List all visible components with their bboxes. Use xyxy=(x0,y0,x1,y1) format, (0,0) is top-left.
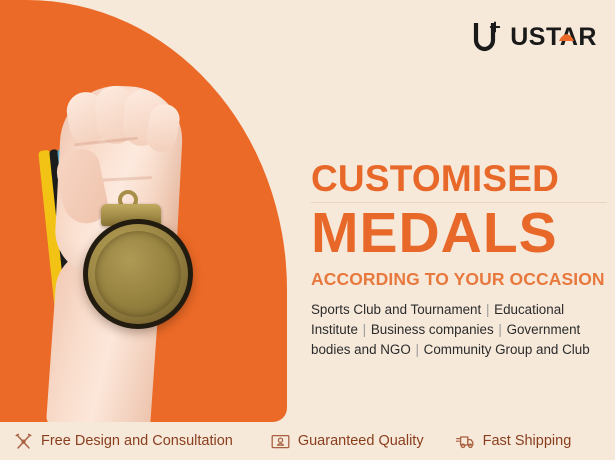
feature-label: Free Design and Consultation xyxy=(41,433,233,449)
logo-wordmark: USTAR xyxy=(510,25,597,50)
logo-text: USTAR xyxy=(510,23,597,51)
hero-copy: CUSTOMISED MEDALS ACCORDING TO YOUR OCCA… xyxy=(311,160,607,360)
quality-badge-icon xyxy=(271,433,290,450)
headline-primary: CUSTOMISED xyxy=(311,160,607,199)
promotional-banner: USTAR CUSTOMISED MEDALS ACCORDING TO YOU… xyxy=(0,0,615,460)
feature-label: Guaranteed Quality xyxy=(298,433,424,449)
audience-separator: | xyxy=(481,302,494,317)
hand-holding-medal-photo xyxy=(0,0,287,422)
audience-separator: | xyxy=(494,322,507,337)
design-tools-icon xyxy=(14,433,33,450)
subheadline: ACCORDING TO YOUR OCCASION xyxy=(311,269,607,290)
feature-free-design: Free Design and Consultation xyxy=(14,433,233,450)
feature-bar: Free Design and Consultation Guaranteed … xyxy=(0,422,615,460)
audience-segment: Community Group and Club xyxy=(424,342,590,357)
feature-label: Fast Shipping xyxy=(483,433,572,449)
feature-guaranteed-quality: Guaranteed Quality xyxy=(271,433,424,450)
audience-list: Sports Club and Tournament | Educational… xyxy=(311,300,607,360)
audience-segment: Business companies xyxy=(371,322,494,337)
audience-separator: | xyxy=(358,322,371,337)
brand-logo[interactable]: USTAR xyxy=(472,20,597,54)
ustar-u-mark-icon xyxy=(472,20,502,54)
feature-fast-shipping: Fast Shipping xyxy=(456,433,572,450)
delivery-truck-icon xyxy=(456,433,475,450)
hero-image-panel xyxy=(0,0,287,422)
audience-separator: | xyxy=(411,342,424,357)
audience-segment: Sports Club and Tournament xyxy=(311,302,481,317)
gold-medal xyxy=(83,219,193,329)
medal-face xyxy=(95,231,181,317)
headline-secondary: MEDALS xyxy=(311,205,607,262)
